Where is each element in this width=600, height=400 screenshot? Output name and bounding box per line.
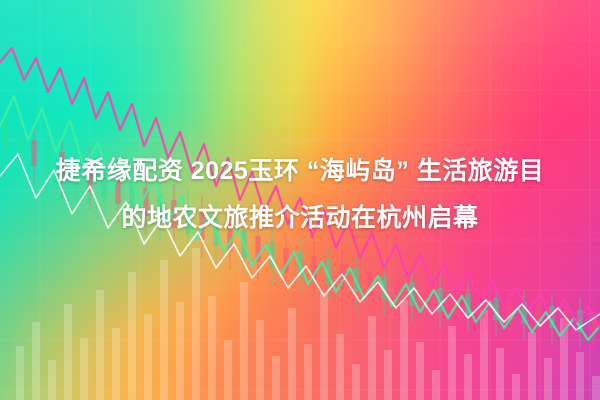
headline-line-1: 捷希缘配资 2025玉环 “海屿岛” 生活旅游目 bbox=[26, 148, 574, 195]
headline: 捷希缘配资 2025玉环 “海屿岛” 生活旅游目 的地农文旅推介活动在杭州启幕 bbox=[0, 148, 600, 242]
headline-line-2: 的地农文旅推介活动在杭州启幕 bbox=[26, 195, 574, 242]
banner-image: 捷希缘配资 2025玉环 “海屿岛” 生活旅游目 的地农文旅推介活动在杭州启幕 bbox=[0, 0, 600, 400]
